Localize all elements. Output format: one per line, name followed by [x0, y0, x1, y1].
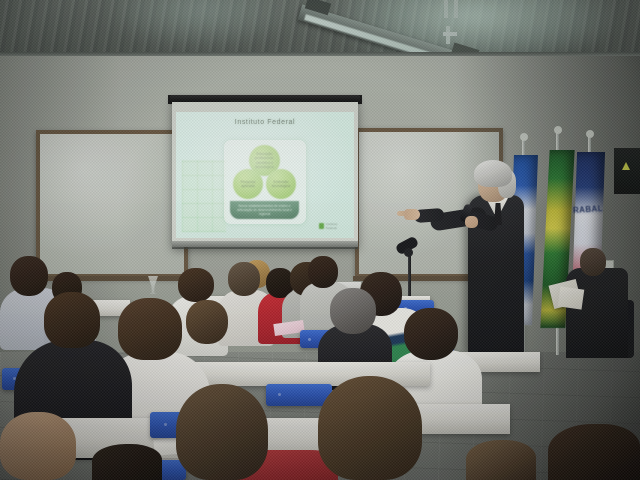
flagpole-finial-icon — [520, 133, 528, 141]
microphone-stand-knob-icon — [404, 248, 413, 257]
attendee-head — [318, 376, 422, 480]
venn-base-bar: Novos estabelecimentos de ensino e artic… — [230, 201, 299, 219]
attendee-head — [92, 444, 162, 480]
attendee-head — [404, 308, 458, 360]
attendee-head — [330, 288, 376, 334]
whiteboard-surface — [40, 134, 184, 274]
ceiling-hanger-icon — [454, 0, 458, 18]
projected-slide: Educação profissional, científica e tecn… — [176, 112, 354, 238]
slide-title: Instituto Federal — [176, 119, 354, 126]
chair — [266, 384, 332, 406]
flagpole-finial-icon — [586, 130, 594, 138]
wall-sign — [614, 148, 640, 194]
attendee-head — [466, 440, 536, 480]
attendee-head — [118, 298, 182, 360]
attendee-head — [178, 268, 214, 302]
attendee-head — [228, 262, 260, 296]
attendee-head — [308, 256, 338, 288]
slide-logo: Instituto Federal — [319, 222, 345, 230]
presenter-mic-hand — [465, 216, 478, 228]
flagpole-finial-icon — [554, 126, 562, 134]
attendee-head — [186, 300, 228, 344]
ceiling-hanger-icon — [446, 26, 450, 44]
venn-circle-left: Pesquisa aplicada — [233, 169, 263, 199]
whiteboard-left — [36, 130, 188, 278]
screen-bottom-shadow — [172, 241, 358, 249]
attendee-head — [10, 256, 48, 296]
slide-logo-mark-icon — [319, 223, 324, 229]
presentation-room-photo: Educação profissional, científica e tecn… — [0, 0, 640, 480]
slide-grid-decoration — [182, 160, 226, 232]
attendee-head — [44, 292, 100, 348]
attendee-head — [176, 384, 268, 480]
attendee-head — [548, 424, 640, 480]
projection-screen-roller — [170, 95, 360, 102]
slide-logo-text: Instituto Federal — [326, 222, 345, 230]
seated-attendee-head — [580, 248, 606, 276]
presenter-hair — [474, 160, 512, 187]
ceiling-hanger-icon — [444, 0, 448, 18]
presenter-pointing-finger — [397, 211, 407, 216]
venn-circle-right: Extensão tecnológica — [266, 169, 296, 199]
attendee-head — [0, 412, 76, 480]
document-sheets — [558, 286, 585, 309]
